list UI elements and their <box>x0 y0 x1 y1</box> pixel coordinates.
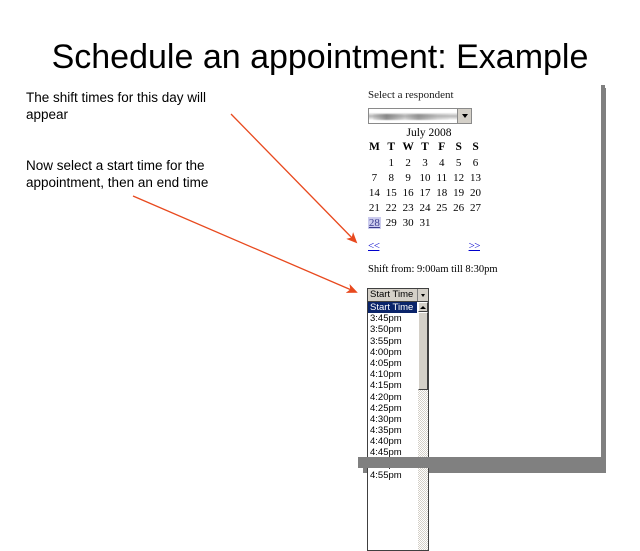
calendar-day-cell[interactable]: 9 <box>400 170 417 185</box>
list-item[interactable]: 4:55pm <box>368 470 417 481</box>
list-item[interactable]: 3:45pm <box>368 313 417 324</box>
calendar-day-cell[interactable]: 5 <box>450 155 467 170</box>
calendar-day-cell[interactable]: 21 <box>366 200 383 215</box>
calendar-day-cell[interactable]: 3 <box>417 155 434 170</box>
list-item[interactable]: 4:05pm <box>368 358 417 369</box>
calendar-day-cell[interactable]: 10 <box>417 170 434 185</box>
calendar-day-cell <box>467 215 484 230</box>
calendar-week-row: 1 2 3 4 5 6 <box>366 155 484 170</box>
list-item[interactable]: 3:55pm <box>368 336 417 347</box>
list-item[interactable]: 4:35pm <box>368 425 417 436</box>
calendar-week-row: 21 22 23 24 25 26 27 <box>366 200 484 215</box>
chevron-down-icon[interactable] <box>417 289 428 301</box>
scrollbar-thumb[interactable] <box>418 312 428 390</box>
calendar-day-cell-selected[interactable]: 28 <box>366 215 383 230</box>
calendar-day-cell[interactable]: 20 <box>467 185 484 200</box>
chevron-down-icon[interactable] <box>457 109 471 123</box>
list-item[interactable]: 4:00pm <box>368 347 417 358</box>
page-title: Schedule an appointment: Example <box>0 38 640 77</box>
calendar-day-cell <box>433 215 450 230</box>
calendar-prev-month-link[interactable]: << <box>368 240 379 252</box>
calendar-day-cell[interactable]: 26 <box>450 200 467 215</box>
start-time-select[interactable]: Start Time <box>367 288 429 302</box>
list-item[interactable]: 4:15pm <box>368 380 417 391</box>
calendar-weekday: S <box>450 141 467 155</box>
calendar-day-cell[interactable]: 18 <box>433 185 450 200</box>
calendar-day-cell[interactable]: 19 <box>450 185 467 200</box>
annotation-select-start-time: Now select a start time for the appointm… <box>26 157 261 191</box>
calendar-next-month-link[interactable]: >> <box>469 240 480 252</box>
calendar: July 2008 M T W T F S S <box>366 127 484 230</box>
list-item[interactable]: Start Time <box>368 302 417 313</box>
calendar-weekday: W <box>400 141 417 155</box>
listbox-scrollbar[interactable] <box>417 302 428 550</box>
calendar-weekday: S <box>467 141 484 155</box>
calendar-navigation: << >> <box>368 240 480 252</box>
calendar-day-cell[interactable]: 17 <box>417 185 434 200</box>
calendar-day-cell[interactable]: 11 <box>433 170 450 185</box>
calendar-month-label: July 2008 <box>366 127 484 139</box>
list-item[interactable]: 4:25pm <box>368 403 417 414</box>
annotation-shift-times: The shift times for this day will appear <box>26 89 251 123</box>
calendar-day-cell[interactable]: 24 <box>417 200 434 215</box>
calendar-weekday: F <box>433 141 450 155</box>
calendar-day-cell[interactable]: 12 <box>450 170 467 185</box>
calendar-day-cell <box>450 215 467 230</box>
calendar-day-cell[interactable]: 31 <box>417 215 434 230</box>
calendar-weekday-row: M T W T F S S <box>366 141 484 155</box>
calendar-weekday: T <box>417 141 434 155</box>
respondent-selected-value <box>369 109 457 123</box>
calendar-day-cell[interactable]: 16 <box>400 185 417 200</box>
calendar-day-cell[interactable]: 23 <box>400 200 417 215</box>
calendar-day-cell[interactable]: 30 <box>400 215 417 230</box>
calendar-day-cell[interactable]: 2 <box>400 155 417 170</box>
calendar-day-cell <box>366 155 383 170</box>
calendar-weekday: T <box>383 141 400 155</box>
start-time-selected-value: Start Time <box>368 289 417 301</box>
start-time-option-list[interactable]: Start Time 3:45pm 3:50pm 3:55pm 4:00pm 4… <box>367 301 429 551</box>
respondent-label: Select a respondent <box>368 89 454 101</box>
list-item[interactable]: 3:50pm <box>368 324 417 335</box>
start-time-options-container: Start Time 3:45pm 3:50pm 3:55pm 4:00pm 4… <box>368 302 417 550</box>
panel-bottom-strip <box>358 457 601 468</box>
calendar-weekday: M <box>366 141 383 155</box>
respondent-select[interactable] <box>368 108 472 124</box>
calendar-day-cell[interactable]: 29 <box>383 215 400 230</box>
calendar-day-cell[interactable]: 15 <box>383 185 400 200</box>
triangle-up-icon[interactable] <box>418 302 428 312</box>
shift-hours-text: Shift from: 9:00am till 8:30pm <box>368 264 498 275</box>
calendar-day-cell[interactable]: 6 <box>467 155 484 170</box>
calendar-day-cell[interactable]: 13 <box>467 170 484 185</box>
calendar-day-cell[interactable]: 14 <box>366 185 383 200</box>
calendar-week-row: 7 8 9 10 11 12 13 <box>366 170 484 185</box>
calendar-week-row: 28 29 30 31 <box>366 215 484 230</box>
calendar-grid: M T W T F S S 1 2 3 4 <box>366 141 484 230</box>
calendar-day-cell[interactable]: 25 <box>433 200 450 215</box>
list-item[interactable]: 4:30pm <box>368 414 417 425</box>
list-item[interactable]: 4:40pm <box>368 436 417 447</box>
list-item[interactable]: 4:10pm <box>368 369 417 380</box>
calendar-day-cell[interactable]: 4 <box>433 155 450 170</box>
embedded-screenshot-panel: Select a respondent July 2008 M T W T F … <box>358 83 601 468</box>
calendar-day-cell[interactable]: 22 <box>383 200 400 215</box>
calendar-day-cell[interactable]: 7 <box>366 170 383 185</box>
calendar-day-cell[interactable]: 27 <box>467 200 484 215</box>
calendar-day-cell[interactable]: 8 <box>383 170 400 185</box>
list-item[interactable]: 4:20pm <box>368 392 417 403</box>
arrow-to-start-time <box>133 196 356 292</box>
calendar-week-row: 14 15 16 17 18 19 20 <box>366 185 484 200</box>
calendar-day-cell[interactable]: 1 <box>383 155 400 170</box>
